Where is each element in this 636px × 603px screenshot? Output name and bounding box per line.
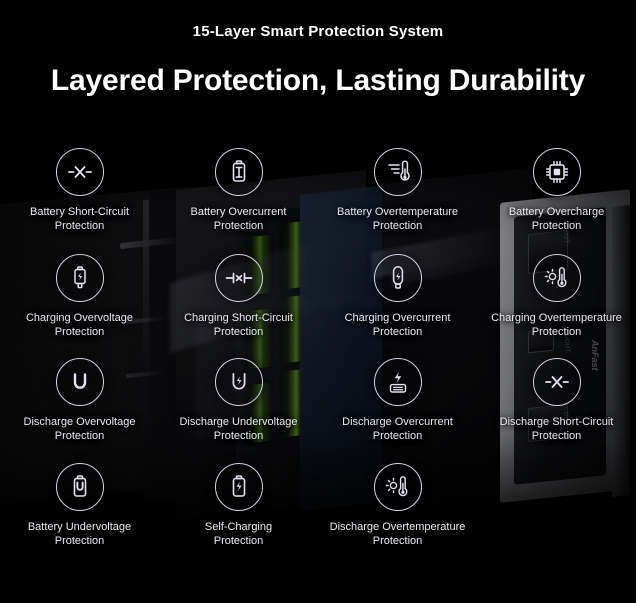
protection-item-discharge-overtemperature: Discharge Overtemperature Protection <box>318 455 477 555</box>
sun-thermometer-icon <box>374 463 422 511</box>
circuit-break-icon <box>215 254 263 302</box>
protection-item-discharge-undervoltage: Discharge Undervoltage Protection <box>159 350 318 455</box>
short-circuit-icon <box>56 148 104 196</box>
u-bolt-icon <box>215 358 263 406</box>
charging-plug-bolt-icon <box>374 254 422 302</box>
protection-item-discharge-overvoltage: Discharge Overvoltage Protection <box>0 350 159 455</box>
protection-label: Self-Charging Protection <box>161 520 316 548</box>
protection-row: Discharge Overvoltage Protection Dischar… <box>0 350 636 455</box>
protection-label: Battery Overcharge Protection <box>479 205 634 233</box>
battery-bolt-icon <box>215 463 263 511</box>
protection-item-discharge-short-circuit: Discharge Short-Circuit Protection <box>477 350 636 455</box>
protection-item-charging-overtemperature: Charging Overtemperature Protection <box>477 246 636 350</box>
protection-label: Battery Undervoltage Protection <box>2 520 157 548</box>
protection-label: Discharge Undervoltage Protection <box>161 415 316 443</box>
sun-thermometer-icon <box>533 254 581 302</box>
charging-battery-bolt-icon <box>56 254 104 302</box>
protection-item-battery-overcharge: Battery Overcharge Protection <box>477 140 636 246</box>
content-overlay: 15-Layer Smart Protection System Layered… <box>0 0 636 603</box>
short-circuit-icon <box>533 358 581 406</box>
protection-item-charging-short-circuit: Charging Short-Circuit Protection <box>159 246 318 350</box>
protection-label: Charging Overcurrent Protection <box>320 311 475 339</box>
protection-row: Battery Undervoltage Protection Self-Cha… <box>0 455 636 555</box>
protection-item-charging-overvoltage: Charging Overvoltage Protection <box>0 246 159 350</box>
protection-label: Battery Overcurrent Protection <box>161 205 316 233</box>
protection-label: Charging Overtemperature Protection <box>479 311 634 339</box>
protection-item-battery-overtemperature: Battery Overtemperature Protection <box>318 140 477 246</box>
protection-label: Battery Short-Circuit Protection <box>2 205 157 233</box>
protection-label: Discharge Overcurrent Protection <box>320 415 475 443</box>
protection-item-discharge-overcurrent: Discharge Overcurrent Protection <box>318 350 477 455</box>
bolt-over-battery-icon <box>374 358 422 406</box>
protection-label: Charging Short-Circuit Protection <box>161 311 316 339</box>
protection-row: Battery Short-Circuit Protection Battery… <box>0 140 636 246</box>
thermometer-heat-icon <box>374 148 422 196</box>
protection-item-charging-overcurrent: Charging Overcurrent Protection <box>318 246 477 350</box>
page-subtitle: 15-Layer Smart Protection System <box>0 23 636 40</box>
protection-item-battery-undervoltage: Battery Undervoltage Protection <box>0 455 159 555</box>
protection-label: Battery Overtemperature Protection <box>320 205 475 233</box>
battery-overcurrent-icon <box>215 148 263 196</box>
u-voltage-icon <box>56 358 104 406</box>
protection-feature-grid: Battery Short-Circuit Protection Battery… <box>0 140 636 555</box>
battery-u-icon <box>56 463 104 511</box>
protection-label: Discharge Overtemperature Protection <box>320 520 475 548</box>
protection-item-battery-overcurrent: Battery Overcurrent Protection <box>159 140 318 246</box>
protection-label: Discharge Short-Circuit Protection <box>479 415 634 443</box>
protection-item-battery-short-circuit: Battery Short-Circuit Protection <box>0 140 159 246</box>
protection-item-self-charging: Self-Charging Protection <box>159 455 318 555</box>
protection-row: Charging Overvoltage Protection Charging… <box>0 246 636 350</box>
protection-label: Charging Overvoltage Protection <box>2 311 157 339</box>
chip-icon <box>533 148 581 196</box>
protection-label: Discharge Overvoltage Protection <box>2 415 157 443</box>
page-title: Layered Protection, Lasting Durability <box>0 64 636 98</box>
